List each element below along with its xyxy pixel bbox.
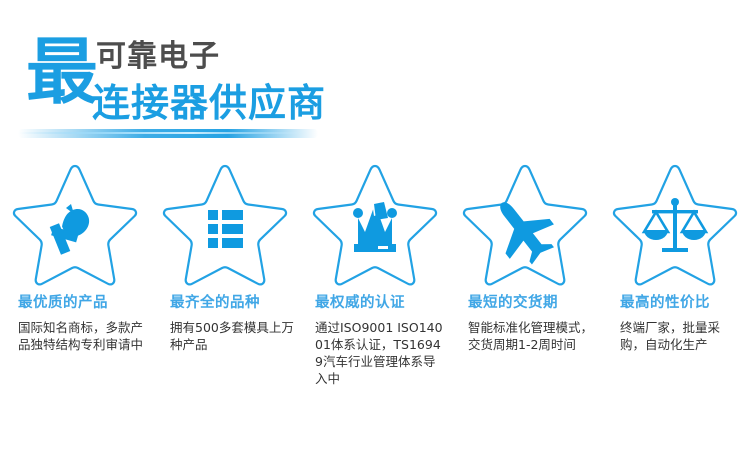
feature-item: 最短的交货期 智能标准化管理模式，交货周期1-2周时间 — [450, 160, 600, 388]
star-outline — [8, 160, 142, 292]
star-badge — [150, 160, 300, 295]
headline-line-2: 连接器供应商 — [92, 84, 326, 122]
feature-title: 最高的性价比 — [600, 295, 750, 312]
headline-line-1: 可靠电子 — [96, 42, 220, 72]
feature-item: 最优质的产品 国际知名商标，多款产品独特结构专利审请中 — [0, 160, 150, 388]
feature-description: 智能标准化管理模式，交货周期1-2周时间 — [450, 320, 600, 354]
headline-divider-highlight — [18, 132, 308, 134]
headline-big-character: 最 — [26, 38, 98, 106]
list-grid-icon — [208, 210, 243, 248]
satellite-dish-icon — [50, 204, 93, 255]
feature-description: 国际知名商标，多款产品独特结构专利审请中 — [0, 320, 150, 354]
crown-trophy-icon — [353, 200, 397, 252]
feature-item: 最齐全的品种 拥有500多套模具上万种产品 — [150, 160, 300, 388]
star-badge — [300, 160, 450, 295]
feature-title: 最权威的认证 — [300, 295, 450, 312]
headline-block: 最 可靠电子 连接器供应商 — [0, 0, 752, 150]
balance-scales-icon — [644, 198, 706, 252]
feature-description: 拥有500多套模具上万种产品 — [150, 320, 300, 354]
star-badge — [600, 160, 750, 295]
feature-list: 最优质的产品 国际知名商标，多款产品独特结构专利审请中 最齐全的品种 拥有500… — [0, 160, 752, 388]
star-outline — [608, 160, 742, 292]
feature-title: 最齐全的品种 — [150, 295, 300, 312]
star-outline — [458, 160, 592, 292]
feature-description: 终端厂家，批量采购，自动化生产 — [600, 320, 750, 354]
feature-title: 最短的交货期 — [450, 295, 600, 312]
star-badge — [0, 160, 150, 295]
feature-item: 最权威的认证 通过ISO9001 ISO14001体系认证，TS16949汽车行… — [300, 160, 450, 388]
feature-item: 最高的性价比 终端厂家，批量采购，自动化生产 — [600, 160, 750, 388]
feature-description: 通过ISO9001 ISO14001体系认证，TS16949汽车行业管理体系导入… — [300, 320, 450, 388]
airplane-icon — [480, 186, 565, 273]
star-badge — [450, 160, 600, 295]
feature-title: 最优质的产品 — [0, 295, 150, 312]
star-outline — [308, 160, 442, 292]
star-outline — [158, 160, 292, 292]
